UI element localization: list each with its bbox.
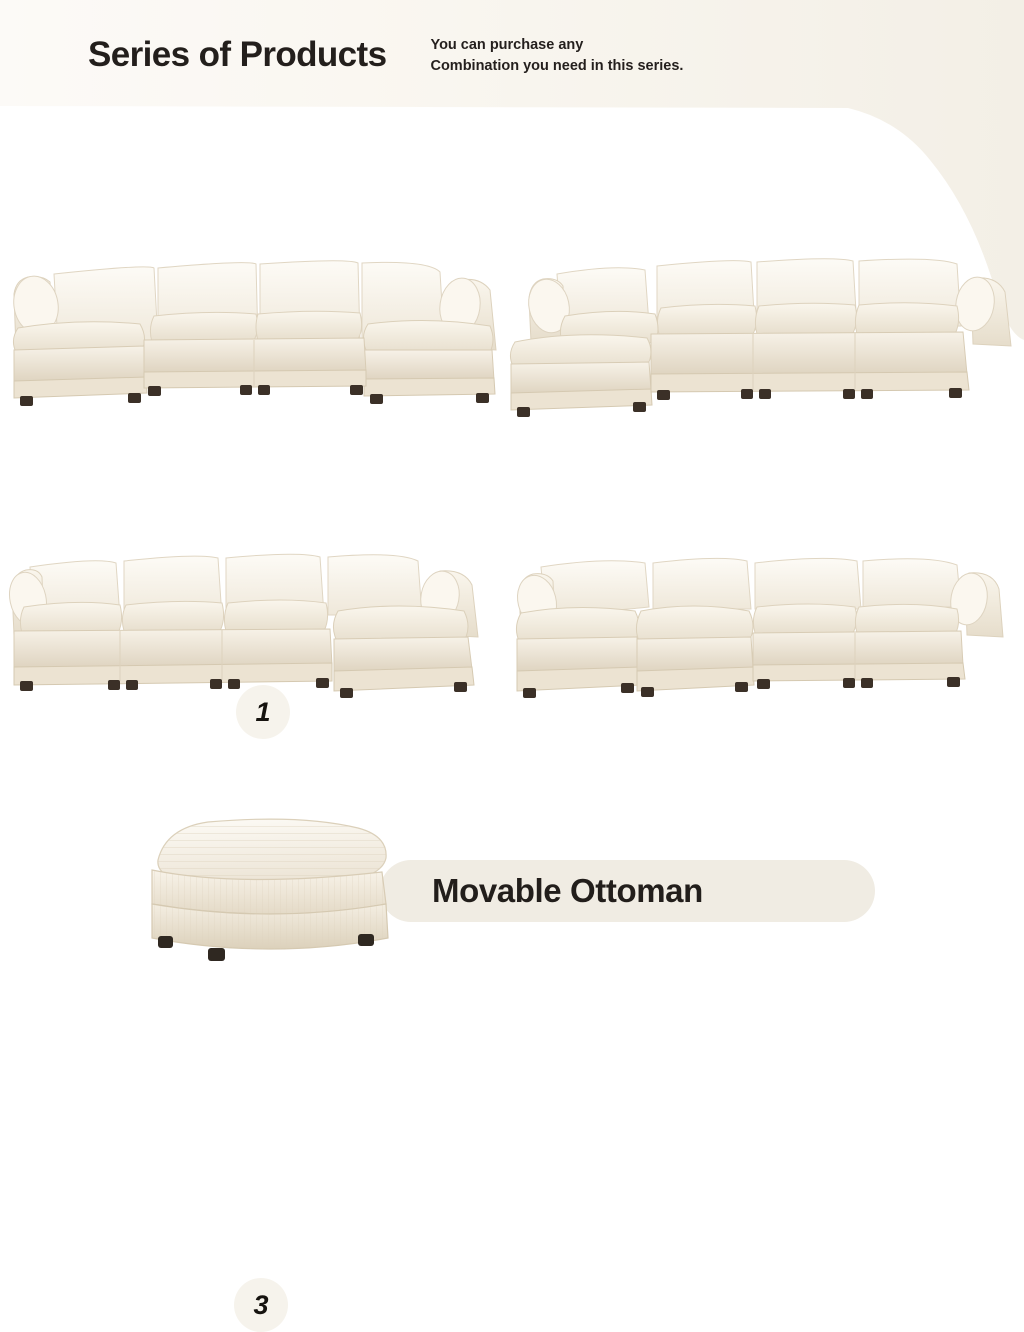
sofa-foot: [20, 396, 33, 406]
header-subtitle: You can purchase any Combination you nee…: [430, 33, 683, 76]
sofa-foot: [108, 680, 120, 690]
sofa-illustration-3: [8, 545, 498, 723]
product-series-grid: 1: [0, 120, 1024, 800]
sofa-foot: [641, 687, 654, 697]
right-chaise-1: [363, 320, 495, 404]
sofa-foot: [861, 389, 873, 399]
product-card-2[interactable]: 2: [505, 250, 1017, 425]
sofa-foot: [735, 682, 748, 692]
ottoman-foot: [358, 934, 374, 946]
product-badge-3: 3: [234, 1278, 288, 1332]
sofa-illustration-4: [505, 545, 1005, 715]
sofa-foot: [148, 386, 161, 396]
ottoman-foot: [158, 936, 173, 948]
sofa-foot: [843, 389, 855, 399]
sofa-foot: [240, 385, 252, 395]
left-chaise-1: [13, 322, 147, 406]
sofa-foot: [316, 678, 329, 688]
sofa-foot: [757, 679, 770, 689]
product-card-3[interactable]: 3: [8, 545, 498, 723]
movable-ottoman-illustration: [130, 812, 420, 977]
sofa-foot: [454, 682, 467, 692]
sofa-foot: [228, 679, 240, 689]
movable-ottoman-banner: Movable Ottoman: [380, 860, 875, 922]
subtitle-line-1: You can purchase any: [430, 35, 683, 56]
sofa-foot: [657, 390, 670, 400]
sofa-foot: [861, 678, 873, 688]
product-card-4[interactable]: 4: [505, 545, 1005, 715]
sofa-foot: [843, 678, 855, 688]
sofa-foot: [20, 681, 33, 691]
main-base-2: [651, 332, 969, 400]
sofa-foot: [523, 688, 536, 698]
sofa-foot: [949, 388, 962, 398]
sofa-foot: [633, 402, 646, 412]
movable-ottoman-label: Movable Ottoman: [432, 872, 703, 910]
movable-ottoman-section: Movable Ottoman: [0, 812, 1024, 992]
sofa-foot: [350, 385, 363, 395]
sofa-foot: [759, 389, 771, 399]
left-chaise-b-4: [636, 606, 754, 697]
left-chaise-a-4: [516, 607, 640, 698]
sofa-foot: [621, 683, 634, 693]
header: Series of Products You can purchase any …: [0, 0, 1024, 110]
sofa-foot: [947, 677, 960, 687]
sofa-foot: [126, 680, 138, 690]
sofa-foot: [476, 393, 489, 403]
center-base-1: [144, 338, 366, 396]
sofa-foot: [517, 407, 530, 417]
sofa-foot: [741, 389, 753, 399]
sofa-foot: [340, 688, 353, 698]
page-title: Series of Products: [88, 35, 386, 75]
main-base-3: [14, 629, 332, 691]
subtitle-line-2: Combination you need in this series.: [430, 56, 683, 77]
sofa-foot: [370, 394, 383, 404]
sofa-illustration-2: [505, 250, 1017, 425]
back-cushions-4: [541, 558, 961, 611]
sofa-foot: [210, 679, 222, 689]
sofa-foot: [128, 393, 141, 403]
ottoman-foot: [208, 948, 225, 961]
sofa-foot: [258, 385, 270, 395]
product-card-1[interactable]: 1: [8, 250, 504, 425]
right-base-4: [753, 631, 965, 689]
left-chaise-2: [510, 335, 652, 417]
sofa-illustration-1: [8, 250, 504, 425]
right-chaise-3: [333, 606, 474, 698]
